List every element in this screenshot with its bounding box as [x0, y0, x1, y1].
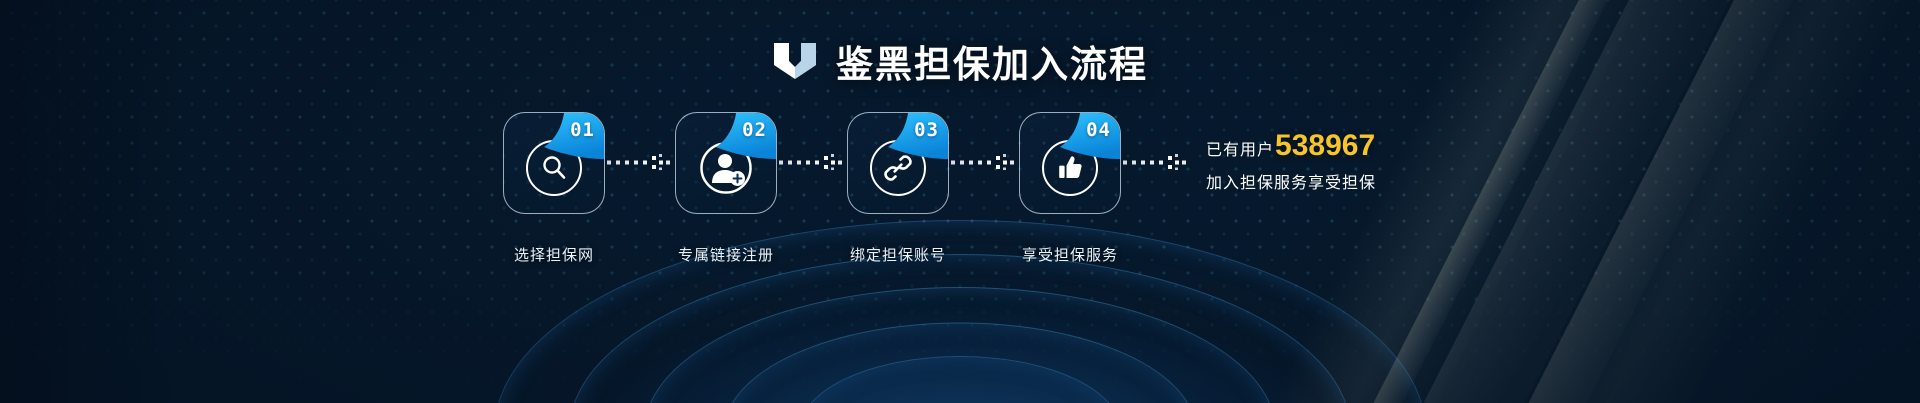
step-number-ribbon-4: 04 [1058, 113, 1120, 159]
dotted-arrow-right-icon [776, 112, 848, 212]
step-item-3[interactable]: 03 绑定担保账号 [848, 112, 948, 265]
step-card-1[interactable]: 01 [503, 112, 605, 214]
step-number-1: 01 [570, 119, 595, 141]
page-title: 鉴黑担保加入流程 [836, 34, 1148, 88]
dotted-arrow-right-icon [604, 112, 676, 212]
step-number-ribbon-3: 03 [886, 113, 948, 159]
user-counter-line-1: 已有用户 538967 [1206, 131, 1375, 161]
promo-banner: 鉴黑担保加入流程 01 [0, 0, 1920, 403]
step-item-2[interactable]: 02 专属链接注册 [676, 112, 776, 265]
step-item-4[interactable]: 04 享受担保服务 [1020, 112, 1120, 265]
step-label-4: 享受担保服务 [1022, 244, 1118, 265]
step-number-4: 04 [1086, 119, 1111, 141]
banner-header: 鉴黑担保加入流程 [0, 34, 1920, 88]
step-card-3[interactable]: 03 [847, 112, 949, 214]
step-card-4[interactable]: 04 [1019, 112, 1121, 214]
step-label-1: 选择担保网 [514, 244, 594, 265]
step-card-2[interactable]: 02 [675, 112, 777, 214]
step-item-1[interactable]: 01 选择担保网 [504, 112, 604, 265]
steps-flow: 01 选择担保网 [0, 112, 1920, 265]
dotted-arrow-right-icon [1120, 112, 1192, 212]
step-number-ribbon-2: 02 [714, 113, 776, 159]
user-counter-value: 538967 [1275, 131, 1375, 161]
step-label-2: 专属链接注册 [678, 244, 774, 265]
shield-logo-icon [772, 41, 818, 81]
user-counter-subtitle: 加入担保服务享受担保 [1206, 169, 1376, 193]
step-number-2: 02 [742, 119, 767, 141]
user-counter-prefix: 已有用户 [1206, 136, 1274, 160]
step-number-ribbon-1: 01 [542, 113, 604, 159]
dotted-arrow-right-icon [948, 112, 1020, 212]
step-label-3: 绑定担保账号 [850, 244, 946, 265]
step-number-3: 03 [914, 119, 939, 141]
user-counter: 已有用户 538967 加入担保服务享受担保 [1206, 112, 1416, 212]
